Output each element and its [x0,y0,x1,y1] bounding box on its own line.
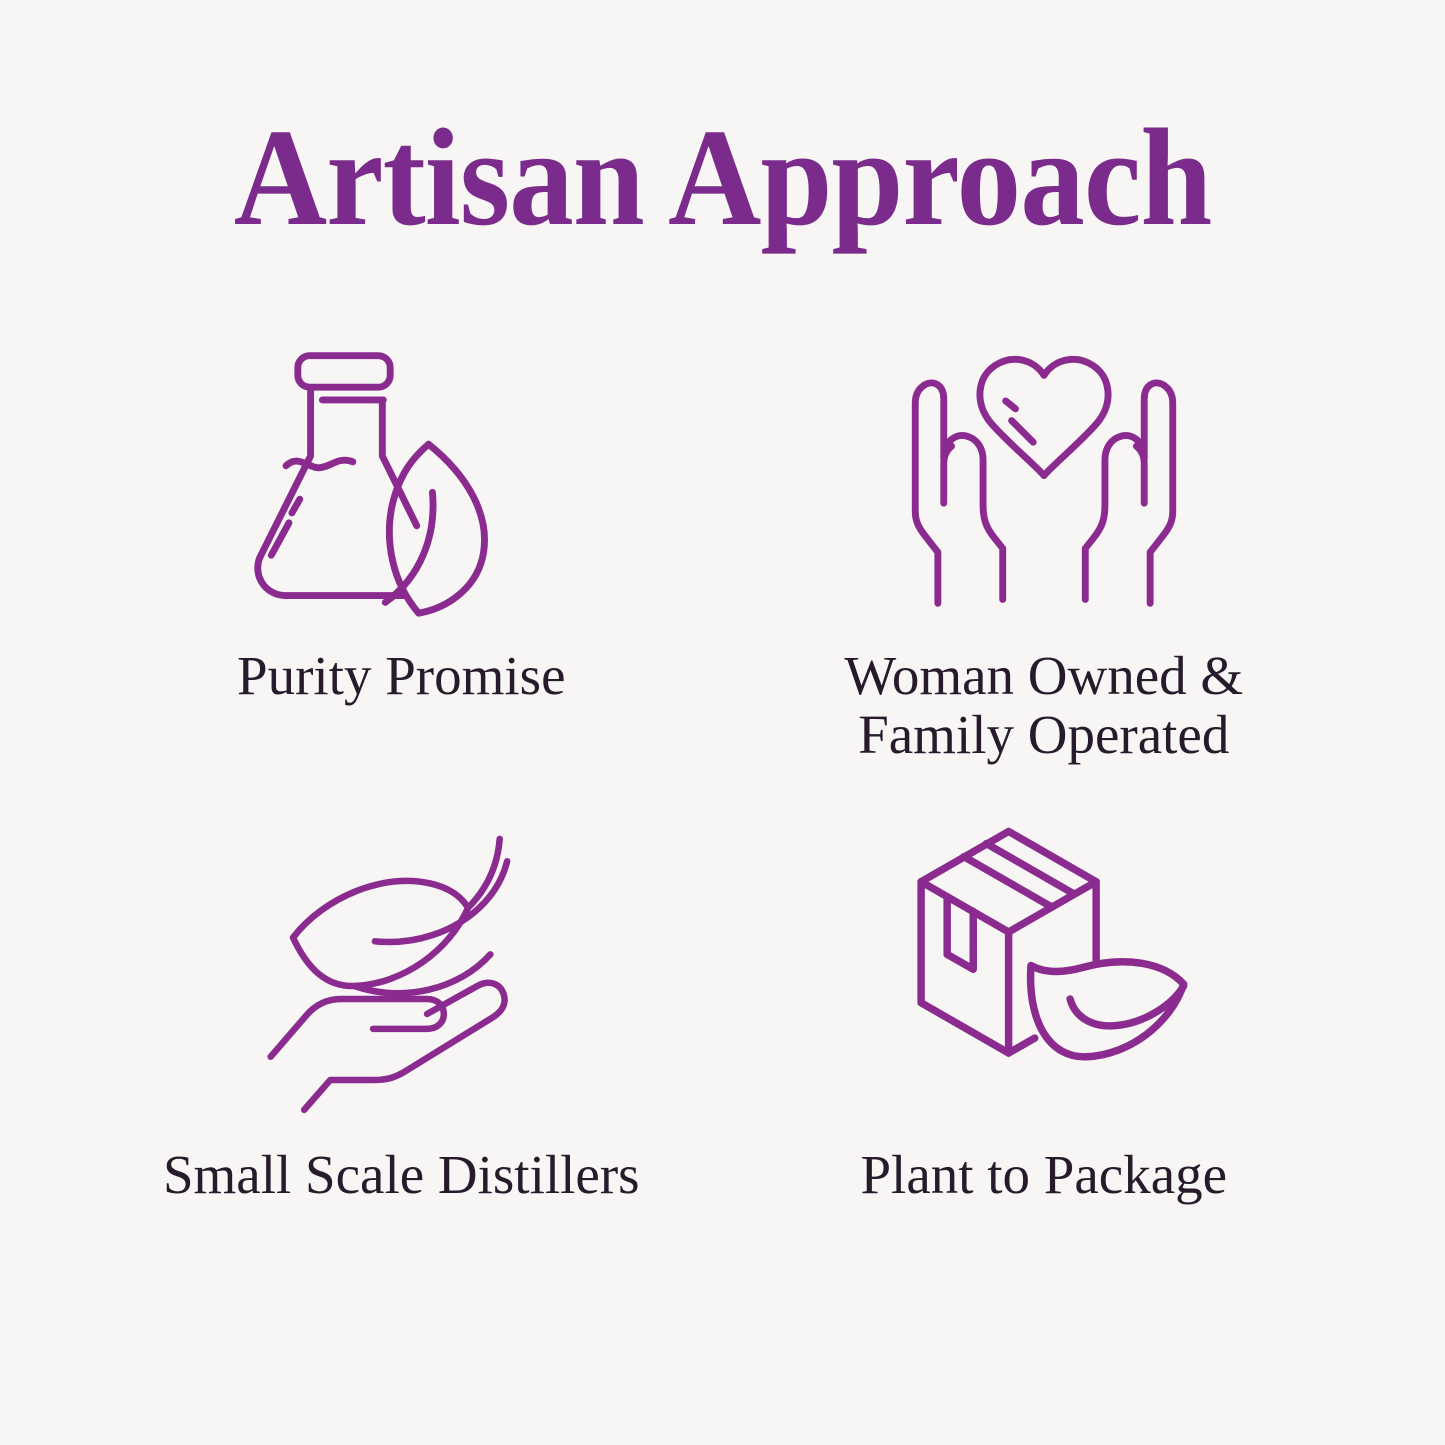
feature-item-woman-owned: Woman Owned & Family Operated [723,340,1366,810]
hand-holding-leaf-icon [251,824,551,1094]
feature-item-plant-to-package: Plant to Package [723,810,1366,1280]
box-leaf-icon [894,824,1194,1094]
feature-label: Small Scale Distillers [163,1146,640,1205]
hands-holding-heart-icon [894,340,1194,625]
feature-grid: Purity Promise [80,340,1365,1280]
feature-item-purity-promise: Purity Promise [80,340,723,810]
feature-label: Purity Promise [237,647,566,706]
feature-label: Woman Owned & Family Operated [844,647,1243,765]
page-title-container: Artisan Approach [0,108,1445,250]
page-title: Artisan Approach [234,108,1212,250]
feature-item-small-scale-distillers: Small Scale Distillers [80,810,723,1280]
flask-leaf-icon [251,340,551,625]
feature-label: Plant to Package [860,1146,1227,1205]
artisan-approach-poster: Artisan Approach [0,0,1445,1445]
